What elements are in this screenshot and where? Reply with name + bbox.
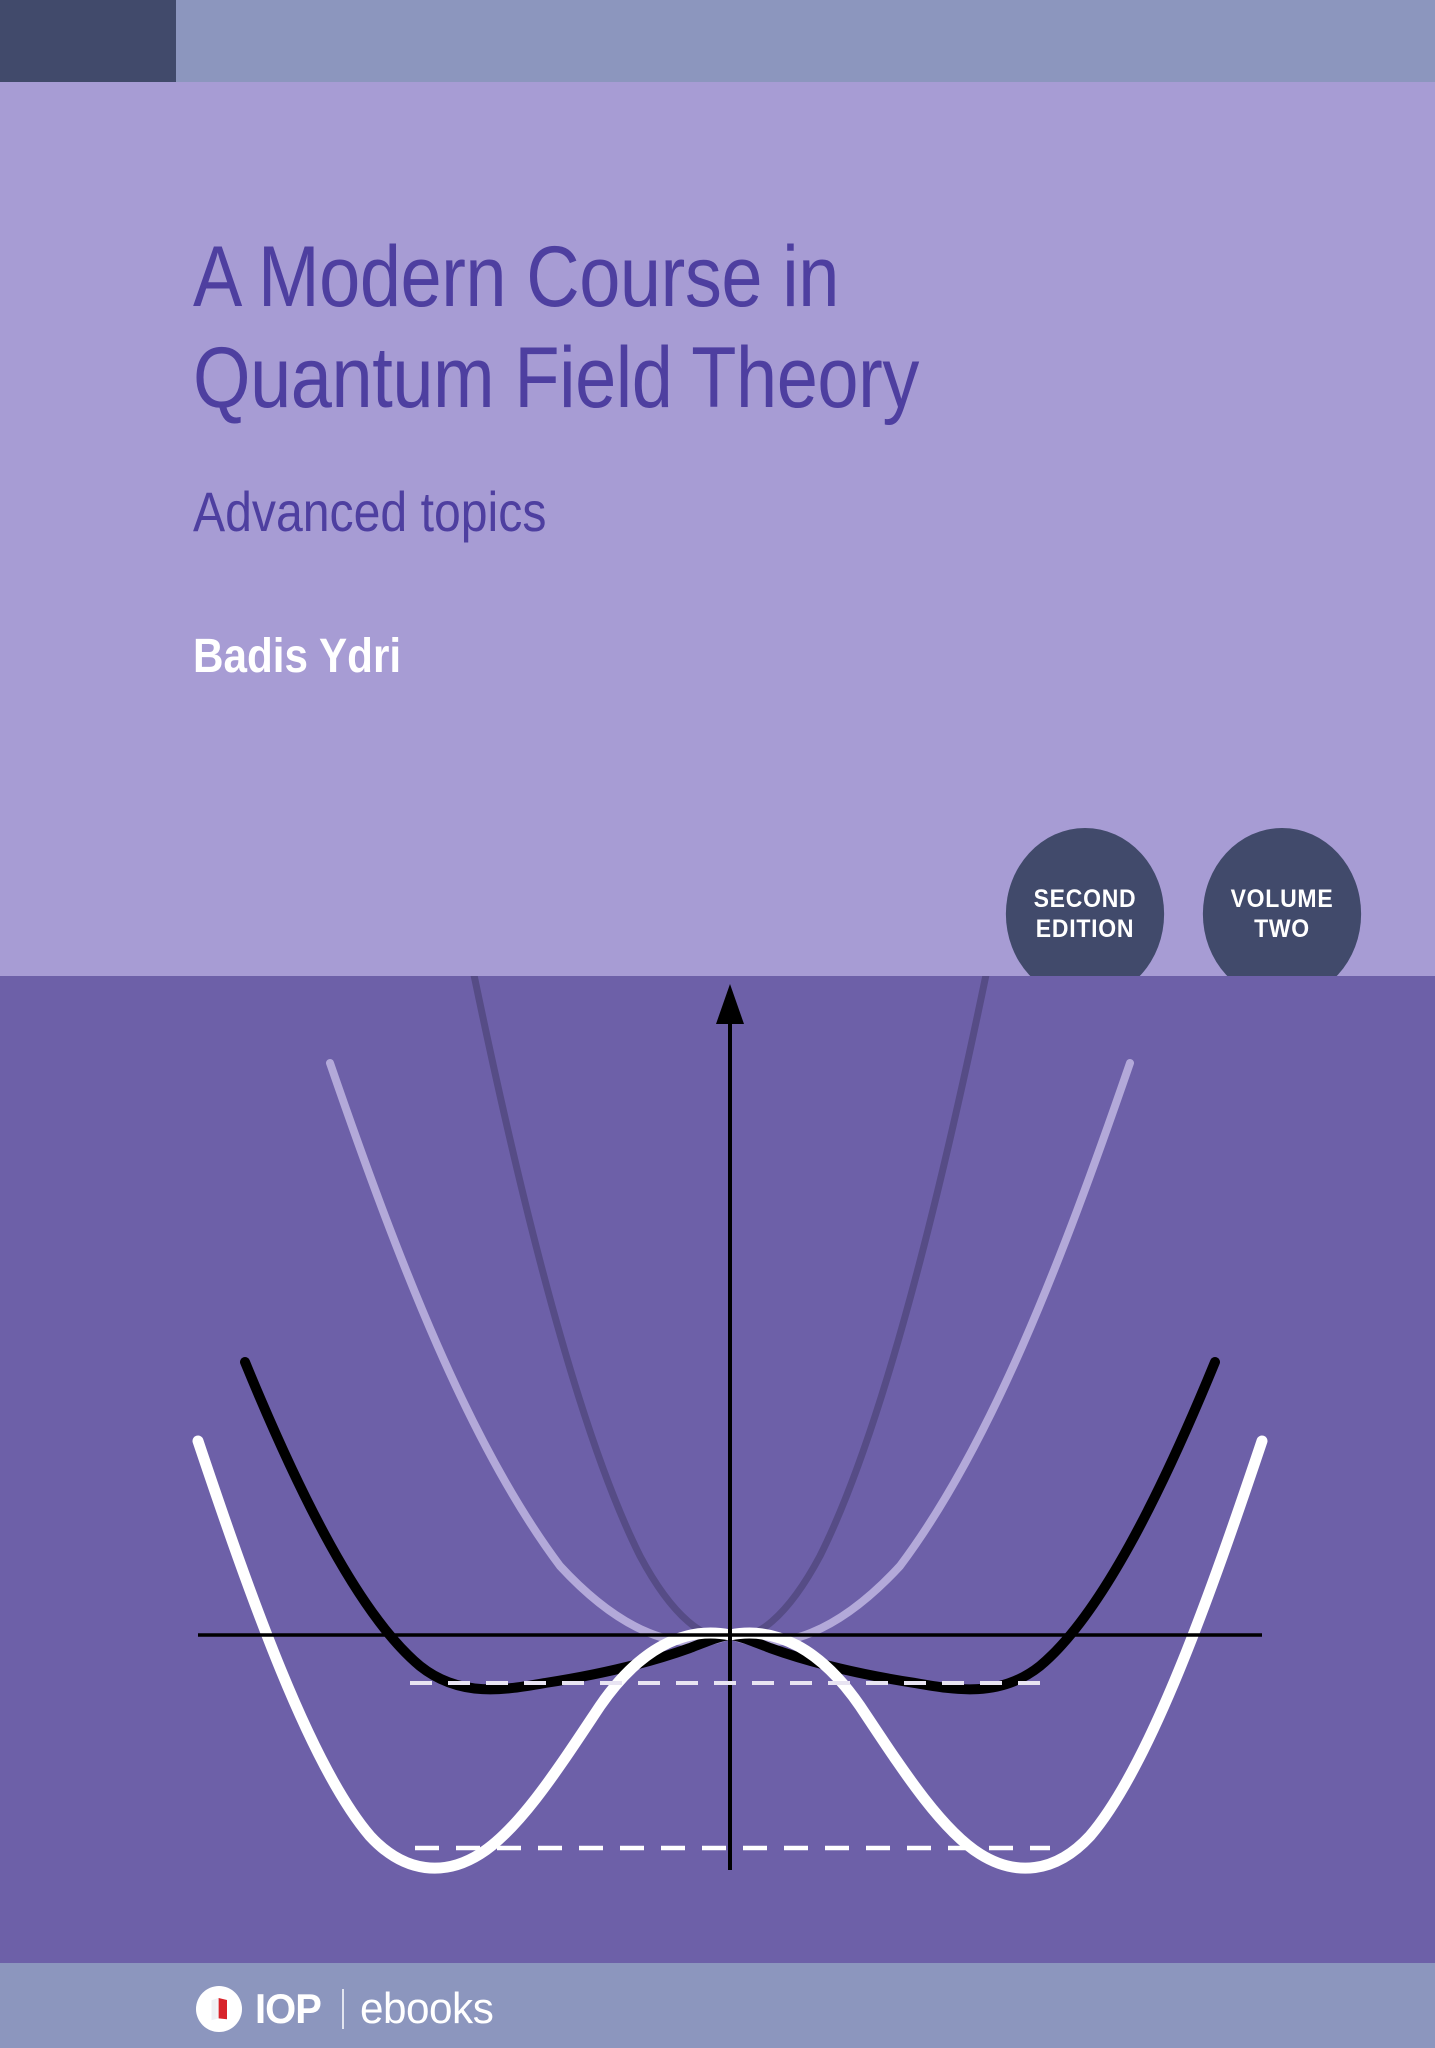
badge-second-edition: SECOND EDITION xyxy=(1006,828,1164,1000)
badge-edition-line2: EDITION xyxy=(1036,914,1134,945)
top-left-navy-block xyxy=(0,0,176,82)
potential-graph-svg xyxy=(0,976,1435,1963)
title-block: A Modern Course in Quantum Field Theory … xyxy=(193,227,1273,684)
y-axis-arrow-icon xyxy=(716,984,744,1024)
book-cover: A Modern Course in Quantum Field Theory … xyxy=(0,0,1435,2048)
potential-graph-panel xyxy=(0,976,1435,1963)
page-subtitle: Advanced topics xyxy=(193,478,1122,545)
badge-volume-two: VOLUME TWO xyxy=(1203,828,1361,1000)
publisher-name: IOP xyxy=(255,1985,321,2033)
iop-ebooks-logo: IOP ebooks xyxy=(196,1985,499,2033)
badge-volume-line2: TWO xyxy=(1254,914,1310,945)
logo-divider xyxy=(342,1989,344,2029)
publisher-product: ebooks xyxy=(360,1984,493,2034)
badge-volume-line1: VOLUME xyxy=(1231,884,1334,915)
author-name: Badis Ydri xyxy=(193,631,1143,684)
upper-panel: A Modern Course in Quantum Field Theory … xyxy=(0,82,1435,976)
book-icon xyxy=(196,1986,242,2032)
badge-edition-line1: SECOND xyxy=(1034,884,1137,915)
page-title: A Modern Course in Quantum Field Theory xyxy=(193,227,1122,430)
top-band xyxy=(0,0,1435,82)
